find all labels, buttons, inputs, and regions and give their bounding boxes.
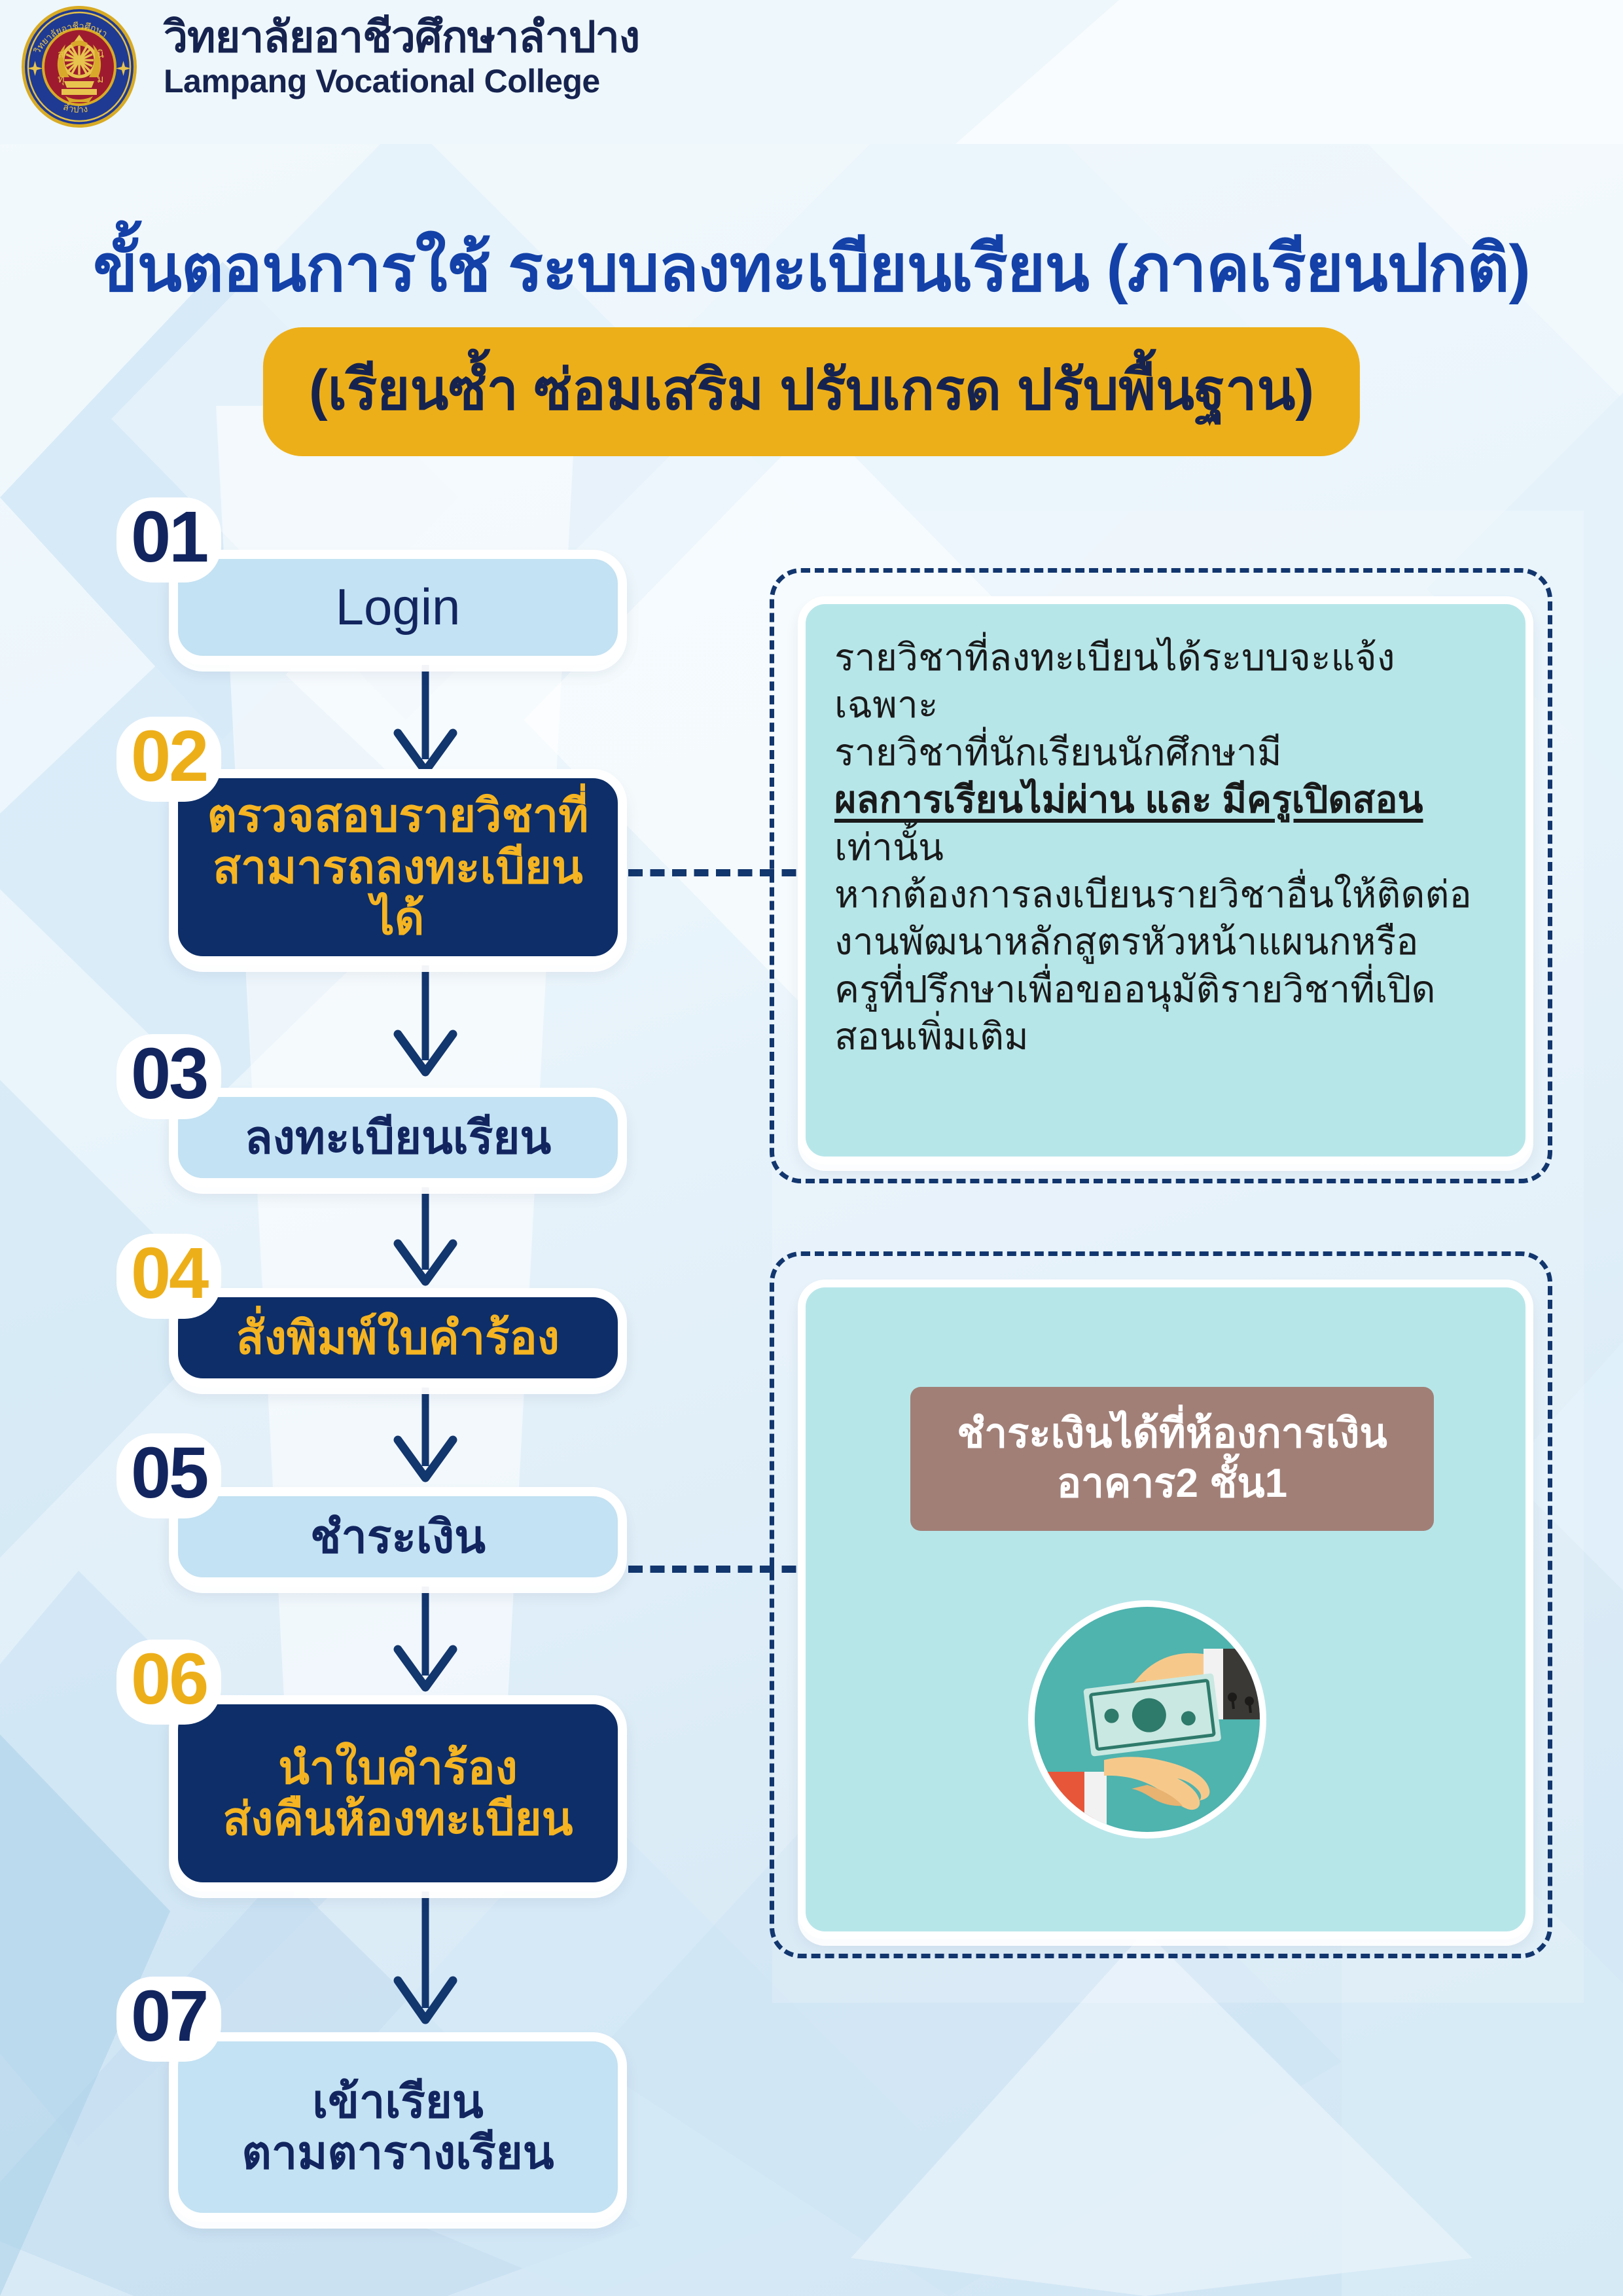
step-box-05-payment[interactable]: ชำระเงิน [169, 1487, 627, 1587]
step-number-02: 02 [116, 717, 221, 802]
courses-note-line-4: เท่านั้น [834, 824, 1497, 871]
step-box-04-print-request[interactable]: สั่งพิมพ์ใบคำร้อง [169, 1288, 627, 1388]
step-label-04: สั่งพิมพ์ใบคำร้อง [223, 1312, 573, 1363]
courses-note-line-8: สอนเพิ่มเติม [834, 1013, 1497, 1060]
arrow-step-01-to-02 [366, 655, 484, 785]
courses-note-line-2: รายวิชาที่นักเรียนนักศึกษามี [834, 729, 1497, 776]
payment-location-label: ชำระเงินได้ที่ห้องการเงินอาคาร2 ชั้น1 [937, 1392, 1407, 1525]
step-box-02-check-courses[interactable]: ตรวจสอบรายวิชาที่สามารถลงทะเบียนได้ [169, 769, 627, 965]
arrow-step-03-to-04 [366, 1172, 484, 1296]
courses-note-line-3-underlined: ผลการเรียนไม่ผ่าน และ มีครูเปิดสอน [834, 776, 1497, 823]
step-label-03: ลงทะเบียนเรียน [232, 1112, 564, 1163]
courses-note-line-5: หากต้องการลงเบียนรายวิชาอื่นให้ติดต่อ [834, 871, 1497, 918]
arrow-step-06-to-07 [366, 1892, 484, 2036]
courses-note-text: รายวิชาที่ลงทะเบียนได้ระบบจะแจ้งเฉพาะ รา… [806, 604, 1525, 1090]
courses-note-line-7: ครูที่ปรึกษาเพื่อขออนุมัติรายวิชาที่เปิด [834, 966, 1497, 1013]
payment-location-bar: ชำระเงินได้ที่ห้องการเงินอาคาร2 ชั้น1 [910, 1387, 1434, 1531]
step-number-03: 03 [116, 1034, 221, 1119]
courses-note-line-6: งานพัฒนาหลักสูตรหัวหน้าแผนกหรือ [834, 918, 1497, 965]
cash-handover-illustration-icon [1016, 1588, 1278, 1850]
courses-note-inner: รายวิชาที่ลงทะเบียนได้ระบบจะแจ้งเฉพาะ รา… [798, 596, 1533, 1164]
step-box-06-return-request[interactable]: นำใบคำร้องส่งคืนห้องทะเบียน [169, 1695, 627, 1892]
step-number-05: 05 [116, 1433, 221, 1518]
infographic-page: ส นิ ทุ ม วิทยาลัยอาชีวศึกษา ลำปาง วิทยา… [0, 0, 1623, 2296]
step-label-07: เข้าเรียนตามตารางเรียน [228, 2076, 567, 2179]
step-number-04: 04 [116, 1234, 221, 1319]
step-number-01: 01 [116, 497, 221, 583]
step-box-03-register[interactable]: ลงทะเบียนเรียน [169, 1088, 627, 1187]
step-number-07: 07 [116, 1977, 221, 2062]
step-label-05: ชำระเงิน [297, 1511, 499, 1562]
step-number-06: 06 [116, 1640, 221, 1725]
payment-note-inner: ชำระเงินได้ที่ห้องการเงินอาคาร2 ชั้น1 [798, 1280, 1533, 1939]
courses-note-panel: รายวิชาที่ลงทะเบียนได้ระบบจะแจ้งเฉพาะ รา… [770, 568, 1552, 1183]
arrow-step-05-to-06 [366, 1571, 484, 1702]
step-box-07-attend-class[interactable]: เข้าเรียนตามตารางเรียน [169, 2032, 627, 2222]
payment-note-panel: ชำระเงินได้ที่ห้องการเงินอาคาร2 ชั้น1 [770, 1251, 1552, 1958]
courses-note-line-1: รายวิชาที่ลงทะเบียนได้ระบบจะแจ้งเฉพาะ [834, 634, 1497, 729]
arrow-step-02-to-03 [366, 962, 484, 1086]
step-box-01-login[interactable]: Login [169, 550, 627, 665]
step-label-01: Login [323, 579, 474, 636]
step-label-02: ตรวจสอบรายวิชาที่สามารถลงทะเบียนได้ [178, 790, 618, 944]
step-label-06: นำใบคำร้องส่งคืนห้องทะเบียน [210, 1742, 586, 1845]
